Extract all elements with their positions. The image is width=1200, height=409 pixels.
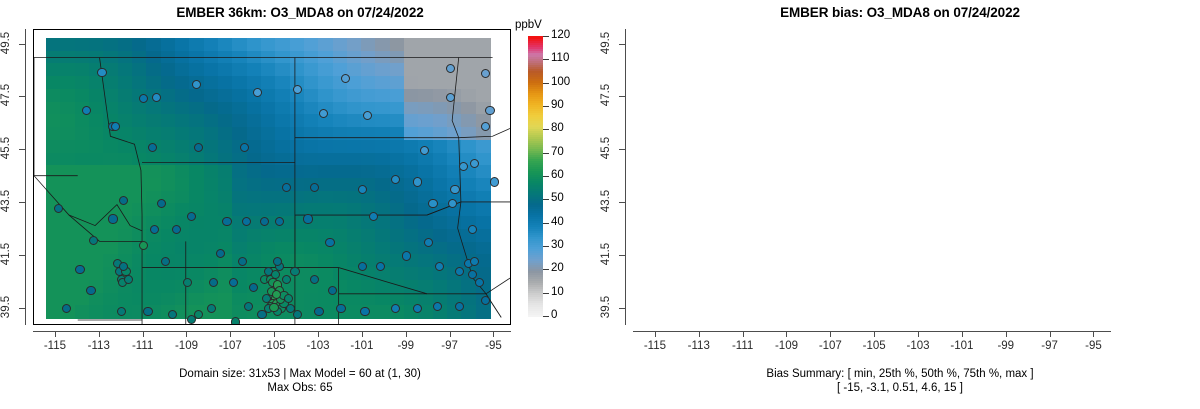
- x-axis-tick-label: -109: [764, 340, 808, 352]
- aqs-site-marker: [161, 257, 170, 266]
- colorbar-tick: [543, 246, 549, 247]
- x-axis-tick: [743, 331, 744, 337]
- y-axis-tick: [619, 44, 625, 45]
- y-axis-tick-label: 39.5: [0, 288, 12, 326]
- y-axis-tick-label: 49.5: [600, 24, 612, 62]
- aqs-site-marker: [470, 257, 479, 266]
- colorbar-tick-label: 0: [551, 309, 557, 321]
- aqs-site-marker: [490, 177, 499, 186]
- aqs-site-marker: [97, 68, 106, 77]
- x-axis-tick-label: -115: [33, 340, 77, 352]
- aqs-site-marker: [222, 217, 231, 226]
- x-axis-tick: [450, 331, 451, 337]
- aqs-site-marker: [303, 214, 312, 223]
- aqs-site-marker: [262, 294, 271, 303]
- x-axis-tick-label: -107: [808, 340, 852, 352]
- y-axis-tick: [19, 202, 25, 203]
- figure-root: EMBER 36km: O3_MDA8 on 07/24/2022 AQS Do…: [0, 0, 1200, 409]
- colorbar-tick: [543, 316, 549, 317]
- x-axis-tick: [318, 331, 319, 337]
- colorbar-tick-label: 30: [551, 239, 564, 251]
- panel-title-model: EMBER 36km: O3_MDA8 on 07/24/2022: [0, 5, 600, 20]
- y-axis-tick-label: 47.5: [0, 76, 12, 114]
- colorbar-tick: [543, 176, 549, 177]
- aqs-site-marker: [183, 278, 192, 287]
- aqs-site-marker: [216, 249, 225, 258]
- x-axis-tick: [699, 331, 700, 337]
- aqs-site-marker: [231, 317, 240, 325]
- x-axis-tick: [1006, 331, 1007, 337]
- aqs-site-marker: [249, 283, 258, 292]
- caption-bias-line1: Bias Summary: [ min, 25th %, 50th %, 75t…: [600, 367, 1200, 381]
- x-axis-tick: [655, 331, 656, 337]
- aqs-site-marker: [485, 106, 494, 115]
- aqs-site-marker: [290, 267, 299, 276]
- aqs-site-marker: [143, 307, 152, 316]
- aqs-site-marker: [271, 270, 280, 279]
- aqs-site-marker: [86, 286, 95, 295]
- caption-bias-line2: [ -15, -3.1, 0.51, 4.6, 15 ]: [600, 381, 1200, 395]
- aqs-site-marker: [448, 199, 457, 208]
- x-axis-tick: [230, 331, 231, 337]
- colorbar-tick: [543, 153, 549, 154]
- aqs-site-marker: [229, 278, 238, 287]
- aqs-site-marker: [314, 307, 323, 316]
- y-axis-tick: [19, 308, 25, 309]
- colorbar-tick-label: 20: [551, 262, 564, 274]
- x-axis-tick: [1050, 331, 1051, 337]
- colorbar-unit-model: ppbV: [515, 19, 542, 31]
- aqs-site-marker: [450, 185, 459, 194]
- aqs-site-marker: [475, 278, 484, 287]
- aqs-site-marker: [272, 290, 281, 299]
- y-axis-tick: [619, 308, 625, 309]
- colorbar-tick-label: 40: [551, 216, 564, 228]
- aqs-site-marker: [75, 265, 84, 274]
- x-axis-tick: [99, 331, 100, 337]
- colorbar-tick-label: 50: [551, 192, 564, 204]
- aqs-site-marker: [328, 286, 337, 295]
- x-axis-tick-label: -95: [1071, 340, 1115, 352]
- aqs-site-marker: [325, 238, 334, 247]
- state-border-path: [69, 205, 142, 231]
- x-axis-tick-label: -113: [677, 340, 721, 352]
- x-axis-tick: [493, 331, 494, 337]
- y-axis-tick-label: 39.5: [600, 288, 612, 326]
- x-axis-tick: [1093, 331, 1094, 337]
- x-axis-tick-label: -97: [428, 340, 472, 352]
- aqs-site-marker: [157, 199, 166, 208]
- colorbar-tick-label: 120: [551, 29, 570, 41]
- aqs-site-marker: [455, 302, 464, 311]
- aqs-site-marker: [336, 304, 345, 313]
- aqs-site-marker: [282, 275, 291, 284]
- colorbar-tick: [543, 293, 549, 294]
- caption-model-line1: Domain size: 31x53 | Max Model = 60 at (…: [0, 367, 600, 381]
- colorbar-gradient-model: [528, 36, 543, 316]
- aqs-site-marker: [319, 109, 328, 118]
- y-axis-tick: [19, 96, 25, 97]
- x-axis-tick-label: -99: [984, 340, 1028, 352]
- colorbar-tick-label: 90: [551, 99, 564, 111]
- y-axis-tick-label: 47.5: [600, 76, 612, 114]
- aqs-site-marker: [284, 294, 293, 303]
- x-axis-tick-label: -97: [1028, 340, 1072, 352]
- y-axis-tick-label: 49.5: [0, 24, 12, 62]
- x-axis-tick: [406, 331, 407, 337]
- aqs-site-marker: [428, 199, 437, 208]
- colorbar-tick-label: 70: [551, 146, 564, 158]
- colorbar-tick: [543, 83, 549, 84]
- x-axis-tick-label: -103: [896, 340, 940, 352]
- aqs-site-marker: [282, 183, 291, 192]
- x-axis-tick-label: -95: [471, 340, 515, 352]
- caption-model-line2: Max Obs: 65: [0, 381, 600, 395]
- y-axis-tick: [619, 202, 625, 203]
- y-axis-tick-label: 45.5: [600, 129, 612, 167]
- aqs-site-marker: [273, 257, 282, 266]
- aqs-site-marker: [192, 80, 201, 89]
- aqs-site-marker: [269, 303, 278, 312]
- colorbar-tick: [543, 223, 549, 224]
- colorbar-tick: [543, 59, 549, 60]
- x-axis-tick-label: -107: [208, 340, 252, 352]
- y-axis-tick-label: 43.5: [600, 182, 612, 220]
- x-axis-tick-label: -111: [721, 340, 765, 352]
- x-axis-tick-label: -113: [77, 340, 121, 352]
- aqs-site-marker: [111, 122, 120, 131]
- y-axis-tick: [619, 96, 625, 97]
- colorbar-tick: [543, 199, 549, 200]
- x-axis-tick-label: -105: [852, 340, 896, 352]
- aqs-site-marker: [260, 217, 269, 226]
- y-axis-tick-label: 43.5: [0, 182, 12, 220]
- aqs-site-marker: [89, 236, 98, 245]
- x-axis-line: [633, 331, 1111, 332]
- y-axis-tick: [19, 255, 25, 256]
- x-axis-tick: [786, 331, 787, 337]
- colorbar-tick-label: 80: [551, 122, 564, 134]
- colorbar-tick: [543, 269, 549, 270]
- aqs-site-marker: [446, 64, 455, 73]
- aqs-site-marker: [360, 307, 369, 316]
- state-border-path: [486, 278, 510, 294]
- aqs-site-marker: [293, 85, 302, 94]
- colorbar-tick-label: 60: [551, 169, 564, 181]
- aqs-site-marker: [459, 162, 468, 171]
- x-axis-tick-label: -109: [164, 340, 208, 352]
- colorbar-tick: [543, 36, 549, 37]
- y-axis-tick-label: 45.5: [0, 129, 12, 167]
- y-axis-tick-label: 41.5: [0, 235, 12, 273]
- y-axis-tick: [619, 255, 625, 256]
- aqs-site-marker: [310, 183, 319, 192]
- colorbar-segment: [528, 36, 543, 39]
- x-axis-tick: [143, 331, 144, 337]
- x-axis-tick-label: -101: [340, 340, 384, 352]
- x-axis-line: [33, 331, 511, 332]
- y-axis-line: [625, 29, 626, 325]
- x-axis-tick: [830, 331, 831, 337]
- colorbar-tick: [543, 129, 549, 130]
- aqs-site-marker: [376, 262, 385, 271]
- state-border-path: [452, 58, 461, 202]
- panel-title-bias: EMBER bias: O3_MDA8 on 07/24/2022: [600, 5, 1200, 20]
- x-axis-tick: [186, 331, 187, 337]
- aqs-site-marker: [238, 257, 247, 266]
- x-axis-tick: [274, 331, 275, 337]
- colorbar-tick: [543, 106, 549, 107]
- x-axis-tick-label: -103: [296, 340, 340, 352]
- x-axis-tick-label: -105: [252, 340, 296, 352]
- x-axis-tick-label: -101: [940, 340, 984, 352]
- y-axis-tick: [19, 149, 25, 150]
- aqs-site-marker: [54, 204, 63, 213]
- x-axis-tick: [55, 331, 56, 337]
- x-axis-tick: [918, 331, 919, 337]
- x-axis-tick-label: -99: [384, 340, 428, 352]
- x-axis-tick-label: -111: [121, 340, 165, 352]
- y-axis-tick: [19, 44, 25, 45]
- aqs-site-marker: [420, 146, 429, 155]
- aqs-site-marker: [168, 310, 177, 319]
- aqs-site-marker: [253, 88, 262, 97]
- aqs-site-marker: [402, 251, 411, 260]
- map-plot-model[interactable]: AQS: [33, 29, 511, 325]
- state-border-path: [34, 58, 142, 242]
- x-axis-tick: [874, 331, 875, 337]
- y-axis-line: [25, 29, 26, 325]
- colorbar-tick-label: 10: [551, 286, 564, 298]
- aqs-site-marker: [257, 310, 266, 319]
- x-axis-tick: [362, 331, 363, 337]
- aqs-site-marker: [413, 177, 422, 186]
- x-axis-tick: [962, 331, 963, 337]
- colorbar-tick-label: 100: [551, 76, 570, 88]
- aqs-site-marker: [108, 214, 117, 223]
- colorbar-tick-label: 110: [551, 52, 569, 64]
- aqs-site-marker: [433, 302, 442, 311]
- y-axis-tick-label: 41.5: [600, 235, 612, 273]
- y-axis-tick: [619, 149, 625, 150]
- x-axis-tick-label: -115: [633, 340, 677, 352]
